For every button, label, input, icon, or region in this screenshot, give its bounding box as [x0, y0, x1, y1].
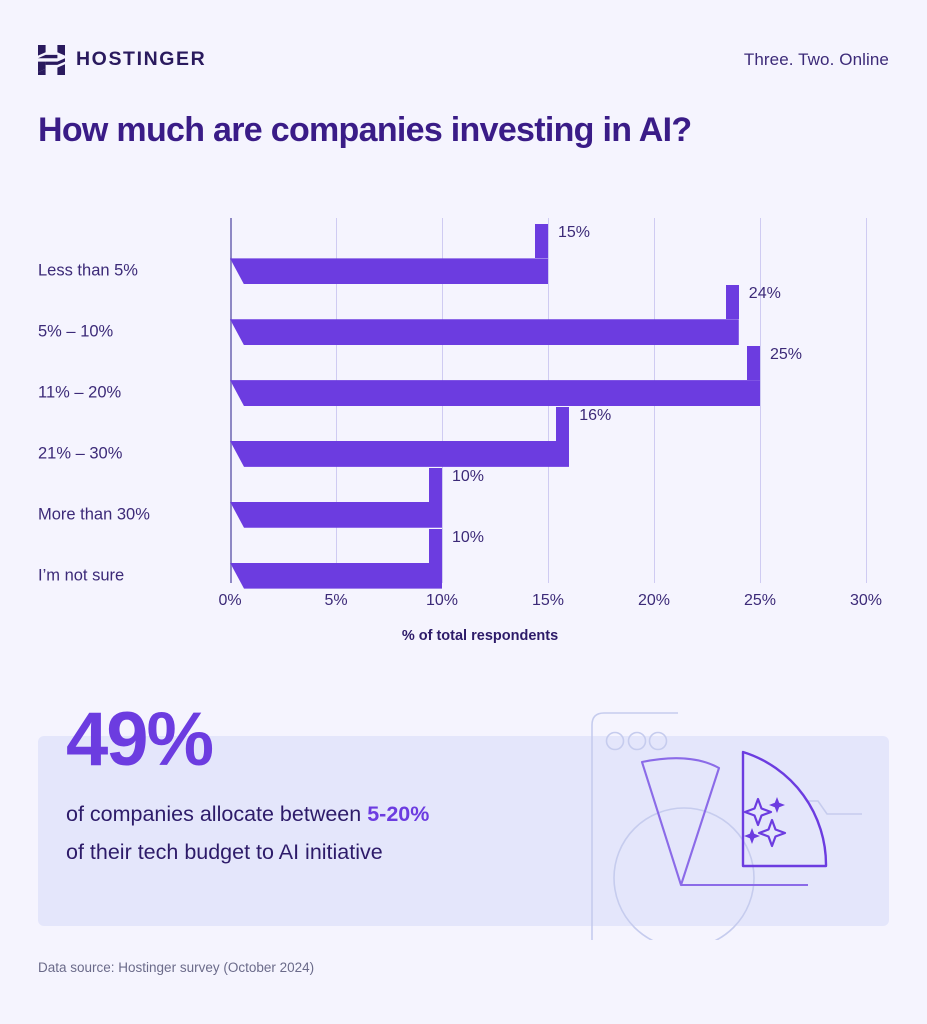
bar-value-label: 10%: [452, 468, 484, 486]
callout-line-1-prefix: of companies allocate between: [66, 802, 367, 826]
hostinger-h-logo-icon: [38, 45, 65, 75]
x-tick-label: 0%: [218, 592, 241, 610]
callout-highlight: 5-20%: [367, 802, 429, 826]
page-title: How much are companies investing in AI?: [38, 110, 691, 151]
bar: [230, 258, 548, 284]
bar: [230, 563, 442, 589]
callout-line-2: of their tech budget to AI initiative: [66, 834, 429, 872]
bar: [230, 319, 739, 345]
tagline: Three. Two. Online: [744, 50, 889, 70]
y-axis-line: [230, 218, 232, 583]
bar-end-riser: [556, 407, 569, 441]
bar-end-riser: [429, 468, 442, 502]
callout-stat: 49%: [66, 702, 212, 778]
plot-area: 15%24%25%16%10%10%: [230, 218, 866, 583]
category-label: 11% – 20%: [38, 384, 121, 403]
brand-name: HOSTINGER: [76, 50, 206, 70]
bar-end-riser: [429, 529, 442, 563]
bar-value-label: 24%: [749, 285, 781, 303]
browser-window-pie-chart-sparkle-illustration-icon: [580, 700, 900, 940]
category-label: 21% – 30%: [38, 444, 122, 463]
gridline: [760, 218, 761, 583]
bar-value-label: 15%: [558, 224, 590, 242]
bar: [230, 502, 442, 528]
bar-end-riser: [747, 346, 760, 380]
bar-end-riser: [535, 224, 548, 258]
x-axis-caption: % of total respondents: [230, 628, 730, 644]
category-label: I’m not sure: [38, 566, 124, 585]
x-tick-label: 25%: [744, 592, 776, 610]
x-tick-label: 15%: [532, 592, 564, 610]
bar-value-label: 25%: [770, 346, 802, 364]
bar-value-label: 16%: [579, 407, 611, 425]
x-tick-label: 20%: [638, 592, 670, 610]
x-tick-label: 30%: [850, 592, 882, 610]
category-label: More than 30%: [38, 505, 150, 524]
x-tick-label: 5%: [324, 592, 347, 610]
category-label: 5% – 10%: [38, 323, 113, 342]
callout-line-1: of companies allocate between 5-20%: [66, 796, 429, 834]
bar: [230, 380, 760, 406]
bar: [230, 441, 569, 467]
bar-chart: 15%24%25%16%10%10% Less than 5%5% – 10%1…: [0, 200, 927, 670]
category-label: Less than 5%: [38, 262, 138, 281]
brand: HOSTINGER: [38, 45, 206, 75]
bar-end-riser: [726, 285, 739, 319]
data-source-note: Data source: Hostinger survey (October 2…: [38, 960, 314, 975]
x-tick-label: 10%: [426, 592, 458, 610]
bar-value-label: 10%: [452, 529, 484, 547]
page-header: HOSTINGER Three. Two. Online: [38, 40, 889, 80]
callout-text: of companies allocate between 5-20% of t…: [66, 796, 429, 871]
gridline: [866, 218, 867, 583]
